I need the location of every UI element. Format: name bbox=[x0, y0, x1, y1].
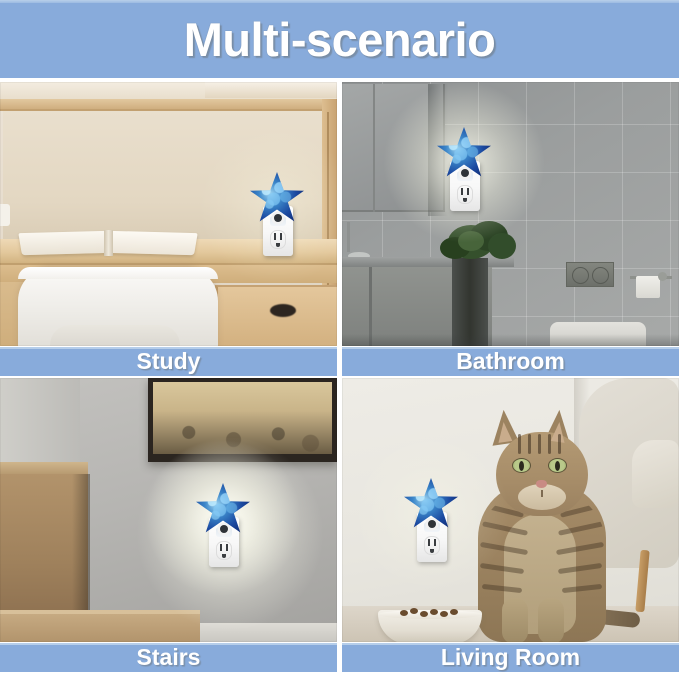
light-sensor-icon bbox=[428, 520, 436, 528]
page-title: Multi-scenario bbox=[184, 16, 496, 63]
caption-bar-living-room: Living Room bbox=[342, 643, 679, 672]
scenario-grid: Study bbox=[0, 82, 679, 676]
cat-ear-inner-left bbox=[496, 421, 513, 443]
scene-image-study bbox=[0, 82, 337, 346]
cabinet-door-seam bbox=[373, 84, 375, 212]
scene-image-living-room bbox=[342, 378, 679, 642]
caption-label-living-room: Living Room bbox=[441, 646, 580, 669]
bathroom-faucet bbox=[347, 222, 350, 252]
scenario-panel-living-room: Living Room bbox=[342, 378, 679, 672]
caption-bar-stairs: Stairs bbox=[0, 643, 337, 672]
study-chair-seat bbox=[50, 325, 180, 346]
outlet-ground-pin bbox=[222, 554, 226, 558]
bathroom-floor-shadow bbox=[342, 334, 679, 346]
outlet-slot-left bbox=[274, 233, 276, 240]
armchair-arm bbox=[632, 440, 679, 508]
toilet-flush-plate bbox=[566, 262, 614, 287]
study-chair-edge bbox=[18, 267, 218, 279]
scene-image-stairs bbox=[0, 378, 337, 642]
study-shelf-items bbox=[205, 82, 337, 98]
outlet-slot-right bbox=[434, 539, 436, 546]
light-sensor-icon bbox=[220, 525, 228, 533]
scenario-panel-bathroom: Bathroom bbox=[342, 82, 679, 376]
study-open-book bbox=[20, 228, 195, 256]
outlet-slot-right bbox=[280, 233, 282, 240]
cat-nose bbox=[536, 480, 547, 488]
product-infographic: Multi-scenario bbox=[0, 0, 679, 676]
light-sensor-icon bbox=[461, 169, 469, 177]
caption-bar-bathroom: Bathroom bbox=[342, 347, 679, 376]
cat-pupil-right bbox=[555, 461, 560, 471]
outlet-slot-right bbox=[467, 188, 469, 195]
outlet-ground-pin bbox=[463, 198, 467, 202]
cat-pupil-left bbox=[519, 461, 524, 471]
caption-label-study: Study bbox=[137, 350, 201, 373]
scenario-panel-study: Study bbox=[0, 82, 337, 376]
plant-foliage bbox=[458, 231, 484, 251]
pet-food-kibble bbox=[400, 608, 462, 618]
star-night-light-living-room bbox=[404, 478, 458, 562]
outlet-slot-left bbox=[428, 539, 430, 546]
stair-riser-shadow bbox=[72, 474, 90, 622]
cat-front-leg-right bbox=[538, 598, 564, 642]
star-night-light-stairs bbox=[196, 483, 250, 567]
caption-label-bathroom: Bathroom bbox=[456, 350, 565, 373]
flush-button-full bbox=[592, 267, 609, 284]
toilet-paper-holder-knob bbox=[658, 272, 667, 281]
bathroom-green-plant bbox=[440, 221, 516, 261]
stair-step-top bbox=[0, 462, 88, 474]
tabby-cat bbox=[460, 402, 620, 642]
header-band: Multi-scenario bbox=[0, 0, 679, 78]
flush-button-half bbox=[572, 267, 589, 284]
star-night-light-study bbox=[250, 172, 304, 256]
study-drawer-handle bbox=[270, 304, 296, 317]
bathroom-plant-pot bbox=[452, 258, 488, 346]
light-sensor-icon bbox=[274, 214, 282, 222]
caption-label-stairs: Stairs bbox=[137, 646, 201, 669]
outlet-ground-pin bbox=[276, 243, 280, 247]
outlet-slot-right bbox=[226, 544, 228, 551]
scene-image-bathroom bbox=[342, 82, 679, 346]
toilet-paper-roll bbox=[636, 276, 660, 298]
scenario-panel-stairs: Stairs bbox=[0, 378, 337, 672]
study-shelf-board bbox=[0, 99, 332, 111]
plant-foliage bbox=[488, 233, 516, 259]
cat-mouth bbox=[541, 490, 543, 497]
outlet-slot-left bbox=[461, 188, 463, 195]
outlet-ground-pin bbox=[430, 549, 434, 553]
caption-bar-study: Study bbox=[0, 347, 337, 376]
book-left-page bbox=[18, 231, 109, 255]
cat-forehead-stripes bbox=[516, 434, 568, 456]
book-right-page bbox=[106, 231, 197, 255]
outlet-slot-left bbox=[220, 544, 222, 551]
star-night-light-bathroom bbox=[437, 127, 491, 211]
book-spine bbox=[104, 230, 113, 256]
cat-front-leg-left bbox=[502, 598, 528, 642]
study-small-object bbox=[0, 204, 10, 226]
